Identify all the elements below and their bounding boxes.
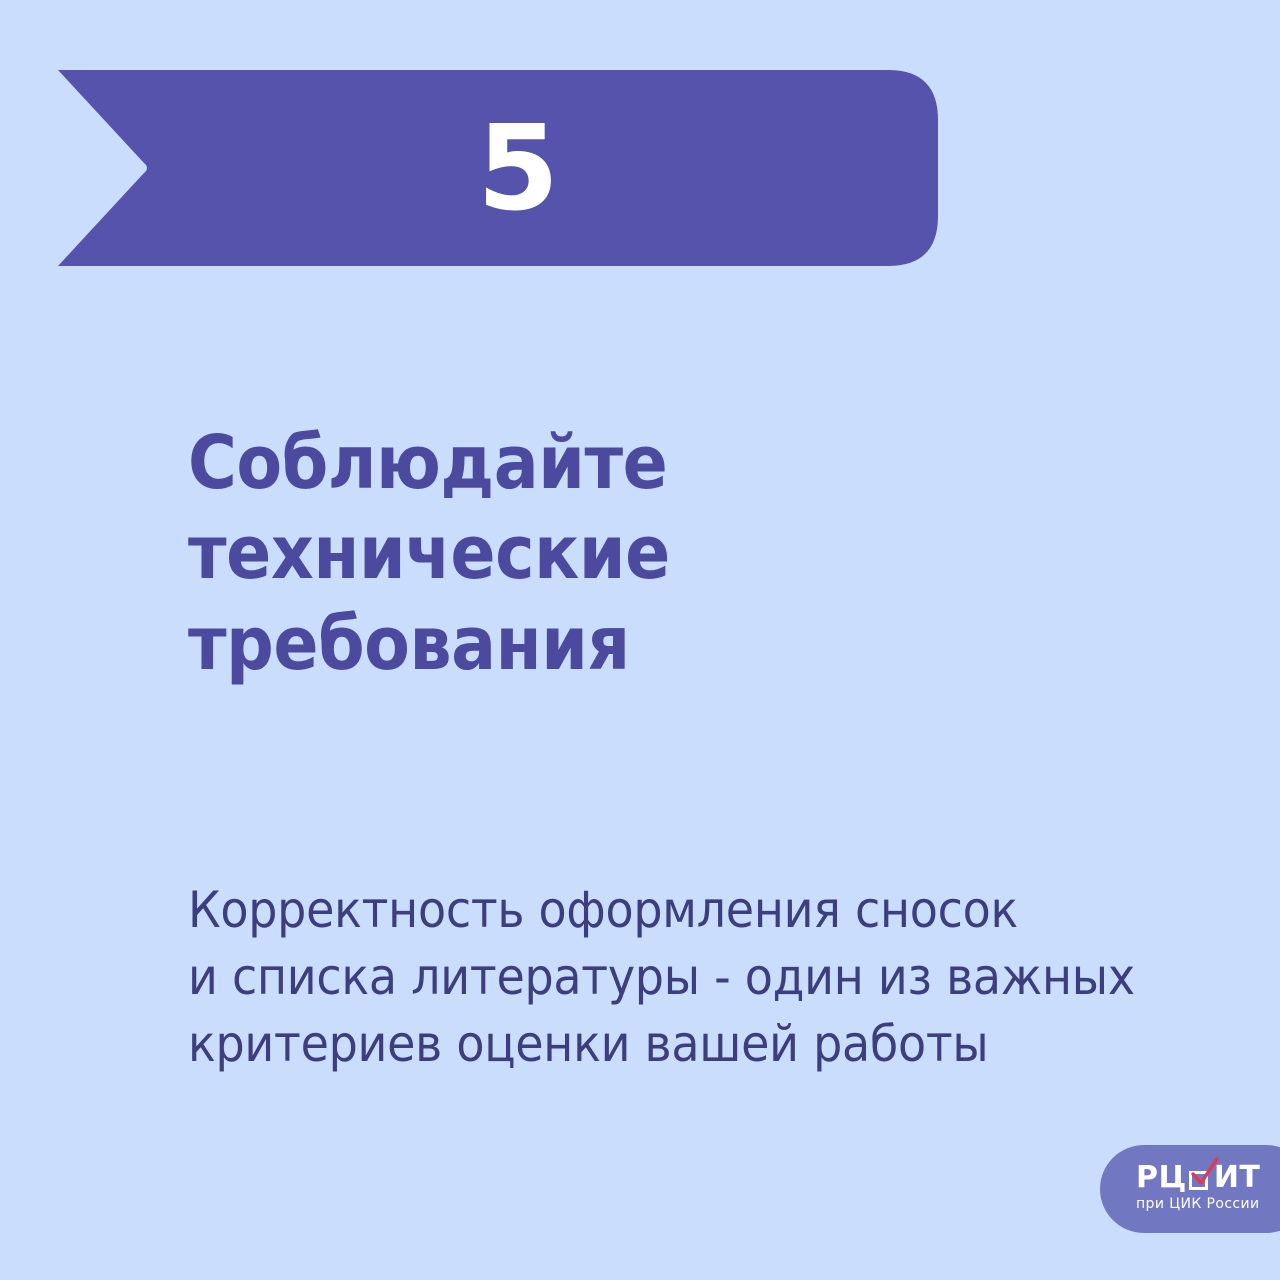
body-text: Корректность оформления сносок и списка …: [188, 877, 1145, 1078]
logo-word-suffix: ИТ: [1214, 1163, 1261, 1193]
logo-subtitle: при ЦИК России: [1136, 1196, 1280, 1212]
logo-badge: РЦ ИТ при ЦИК России: [1100, 1145, 1280, 1233]
checkmark-icon: [1190, 1157, 1220, 1191]
slide-canvas: 5 Соблюдайте технические требования Корр…: [0, 0, 1280, 1280]
ballot-box-icon: [1189, 1168, 1212, 1191]
logo-wordmark: РЦ ИТ: [1136, 1159, 1280, 1193]
page-title: Соблюдайте технические требования: [188, 418, 1052, 689]
step-number: 5: [58, 70, 938, 266]
step-ribbon-banner: 5: [58, 70, 938, 266]
logo-word-prefix: РЦ: [1136, 1163, 1187, 1193]
